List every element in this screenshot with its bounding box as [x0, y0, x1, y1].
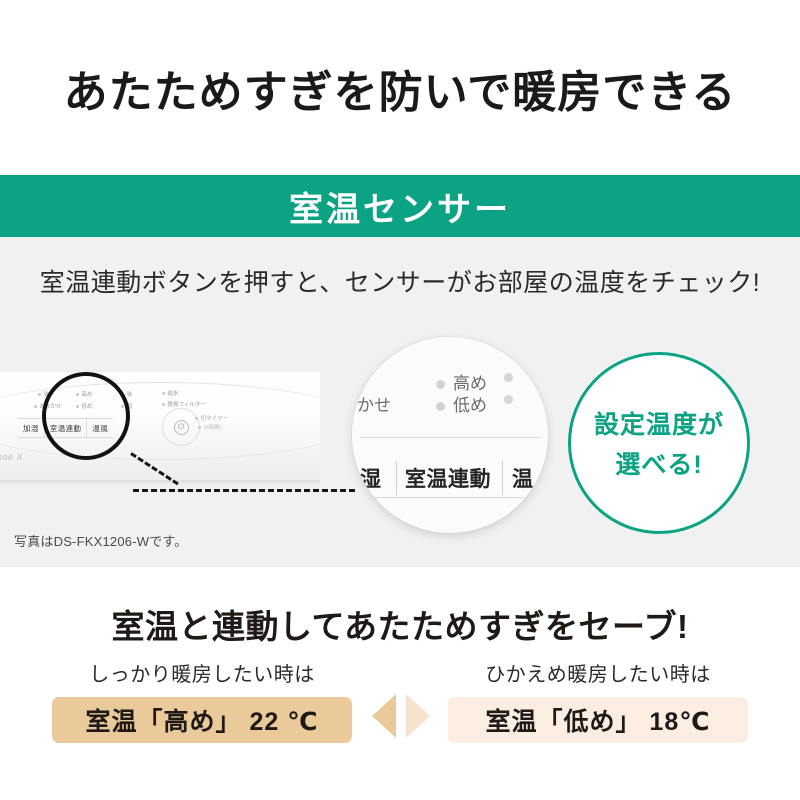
comparison-title: 室温と連動してあたためすぎをセーブ!	[0, 600, 800, 648]
magnifier-separator-right	[502, 461, 503, 495]
magnifier-content: まかせ 高め 低め 湿 室温連動 温	[352, 337, 548, 533]
magnifier-label-auto: まかせ	[352, 391, 391, 416]
product-photo: 強 高め 強 給水 脱臭フィルター おまかせ 低め 弱 加湿 室温連動 温風 ⏻…	[0, 330, 320, 525]
page-title: あたためすぎを防いで暖房できる	[64, 56, 737, 120]
timer-label: 切タイマー	[195, 414, 228, 422]
comparison-left: しっかり暖房したい時は 室温「高め」 22 ℃	[52, 658, 352, 743]
magnifier-button-left[interactable]: 湿	[360, 461, 381, 495]
connector-line-horizontal	[133, 489, 355, 492]
infographic-page: あたためすぎを防いで暖房できる 室温センサー 室温連動ボタンを押すと、センサーが…	[0, 0, 800, 800]
magnifier-label-low: 低め	[436, 391, 487, 416]
banner-title: 室温センサー	[289, 182, 511, 231]
magnifier-button-main[interactable]: 室温連動	[400, 461, 496, 495]
photo-caption: 写真はDS-FKX1206-Wです。	[14, 531, 188, 550]
callout-circle: 設定温度が 選べる!	[568, 352, 750, 534]
callout-line-2: 選べる!	[615, 445, 702, 481]
left-right-arrow-icon	[372, 694, 430, 738]
timer-sublabel: (6時間)	[198, 423, 221, 431]
arrow-right-half	[406, 694, 430, 738]
highlight-circle	[42, 372, 130, 460]
headline-band: あたためすぎを防いで暖房できる	[0, 0, 800, 175]
feature-description: 室温連動ボタンを押すと、センサーがお部屋の温度をチェック!	[0, 263, 800, 299]
panel-label-4: 脱臭フィルター	[162, 400, 206, 408]
comparison-right-heading: ひかえめ暖房したい時は	[448, 658, 748, 687]
comparison-left-heading: しっかり暖房したい時は	[52, 658, 352, 687]
brand-logo: nanoe X	[0, 452, 23, 462]
magnifier-rule-top	[360, 437, 540, 438]
comparison-left-chip: 室温「高め」 22 ℃	[52, 697, 352, 743]
magnifier-rule-bottom	[360, 497, 540, 498]
panel-label-3: 給水	[162, 389, 179, 397]
power-icon: ⏻	[174, 420, 189, 435]
magnifier-separator-left	[396, 461, 397, 495]
panel-button-kashitsu[interactable]: 加湿	[18, 419, 44, 437]
magnifier-ghost-dot-1	[504, 373, 513, 382]
magnifier-ghost-dot-2	[504, 395, 513, 404]
magnifier-circle: まかせ 高め 低め 湿 室温連動 温	[352, 337, 548, 533]
arrow-left-half	[372, 694, 396, 738]
comparison-right: ひかえめ暖房したい時は 室温「低め」 18℃	[448, 658, 748, 743]
magnifier-button-right[interactable]: 温	[512, 461, 533, 495]
comparison-right-chip: 室温「低め」 18℃	[448, 697, 748, 743]
section-banner: 室温センサー	[0, 175, 800, 237]
callout-line-1: 設定温度が	[594, 405, 724, 441]
